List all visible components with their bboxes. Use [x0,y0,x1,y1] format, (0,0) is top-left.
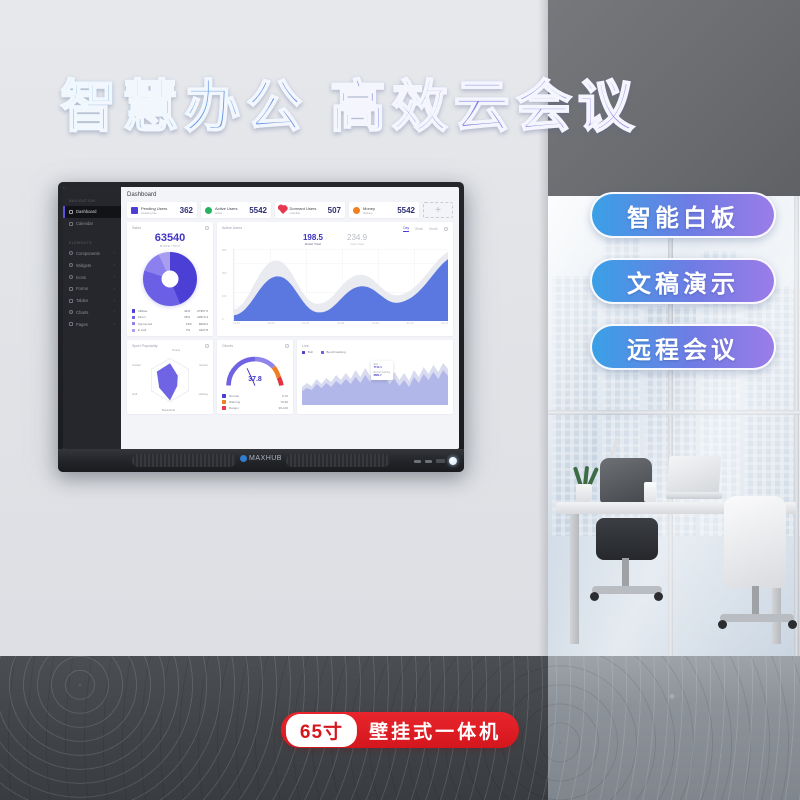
gauge-value: 37.8 [222,376,288,383]
stat-value: 5542 [249,206,267,215]
sales-donut-chart [143,252,197,306]
radar-axis-label: Basketball [162,408,175,412]
legend-amount: 22874.4 [197,315,208,319]
office-furniture [548,440,800,690]
volume-down-button[interactable] [414,460,421,463]
total-flow: 234.9 Flow Total [347,233,367,246]
chevron-right-icon: › [114,263,115,267]
legend-swatch [132,309,135,312]
x-tick: 01-05 [233,322,240,325]
y-tick: 200 [222,272,233,275]
circle-orange-icon [353,207,360,214]
pages-icon [69,322,73,326]
line-area-chart: Bull 7714.4 Benchmarking 6881.7 [302,355,448,405]
sidebar-caption-elements: ELEMENTS [63,237,121,248]
gear-icon[interactable] [205,344,209,348]
active-users-title: Active Users [222,226,242,230]
gauge-chart: 37.8 [222,350,288,392]
sidebar-item-icons[interactable]: Icons › [63,271,121,283]
line-title: Line [302,344,448,348]
sales-subtitle: MORE INFO [132,244,208,248]
radar-axis-label: Golf [132,392,137,396]
y-tick: 100 [222,295,233,298]
sidebar-item-dashboard[interactable]: Dashboard [63,206,121,218]
power-button[interactable] [449,457,457,465]
sidebar-item-label: Tables [76,298,88,303]
x-tick: 01-06 [268,322,275,325]
legend-label: Affiliate [138,309,184,313]
legend-label: Danger [229,406,279,410]
radar-series [132,350,208,410]
dashboard-app: NAVIGATION Dashboard Calendar ELEMENTS C… [63,187,459,449]
legend-label: Bull [308,350,313,354]
stat-card-money[interactable]: Money delivery 5542 [349,202,419,218]
sales-title: Sales [132,226,208,230]
speaker-grille-right [286,454,390,467]
sidebar-item-widgets[interactable]: Widgets › [63,259,121,271]
screen-size-badge: 65寸 [286,714,357,747]
stat-card-pending-users[interactable]: Pending Users Awaiting title 362 [127,202,197,218]
legend-swatch [132,316,135,319]
stat-card-dormant-users[interactable]: Dormant Users undefine 507 [275,202,345,218]
stat-value: 362 [180,206,193,215]
gauge-legend-item: Warning 70-90 [222,400,288,404]
feature-pill-list: 智能白板 文稿演示 远程会议 [590,192,776,370]
widgets-icon [69,263,73,267]
feature-pill-presentation[interactable]: 文稿演示 [590,258,776,304]
sidebar-item-label: Icons [76,275,86,280]
radar-axis-label: Soccer [199,363,208,367]
brand-mark-icon [240,455,247,462]
legend-percent: 13% [186,322,199,326]
sidebar-item-label: Forms [76,286,88,291]
sidebar-caption-main: NAVIGATION [63,195,121,206]
sidebar-item-forms[interactable]: Forms › [63,283,121,295]
laptop-icon [667,456,722,494]
legend-amount: 8260.2 [199,322,208,326]
total-label: Bullet Total [303,242,323,246]
feature-pill-remote-meeting[interactable]: 远程会议 [590,324,776,370]
stat-value: 507 [328,206,341,215]
components-icon [69,251,73,255]
legend-item: Bull [302,350,313,354]
stat-sublabel: delivery [363,211,397,215]
area-series [234,249,448,321]
chevron-right-icon: › [114,310,115,314]
circle-green-icon [205,207,212,214]
x-tick: 01-07 [303,322,310,325]
legend-swatch [321,351,324,354]
legend-range: 90-100 [279,406,288,410]
sales-value: 63540 [132,232,208,244]
total-value: 234.9 [347,233,367,242]
chart-row-1: Sales 63540 MORE INFO Affiliate 44% 2795… [127,222,453,336]
chevron-right-icon: › [114,251,115,255]
sidebar-item-label: Widgets [76,263,91,268]
legend-range: 70-90 [280,400,288,404]
tooltip-value: 7714.4 [374,366,391,369]
legend-swatch [132,322,135,325]
gear-icon[interactable] [444,227,448,231]
sidebar-item-label: Components [76,251,100,256]
tooltip-value: 6881.7 [374,374,391,377]
page-title: 智慧办公 高效云会议 [0,62,700,143]
gear-icon[interactable] [205,226,209,230]
sidebar-item-label: Charts [76,310,88,315]
legend-label: Warning [229,400,280,404]
calendar-icon [69,222,73,226]
legend-item: Affiliate 44% 27957.6 [132,309,208,313]
volume-up-button[interactable] [425,460,432,463]
speaker-grille-left [132,454,236,467]
active-users-x-axis: 01-05 01-06 01-07 01-08 01-09 01-10 01-1… [222,322,448,325]
x-tick: 01-11 [442,322,448,325]
gear-icon[interactable] [285,344,289,348]
sales-card: Sales 63540 MORE INFO Affiliate 44% 2795… [127,222,213,336]
chevron-right-icon: › [114,275,115,279]
sidebar-item-label: Calendar [76,221,93,226]
forms-icon [69,287,73,291]
banner-text: 壁挂式一体机 [369,717,501,744]
sidebar-item-components[interactable]: Components › [63,248,121,260]
sport-title: Sport Popularity [132,344,208,348]
chart-tooltip: Bull 7714.4 Benchmarking 6881.7 [371,361,394,380]
total-value: 198.5 [303,233,323,242]
chevron-right-icon: › [114,287,115,291]
sidebar: NAVIGATION Dashboard Calendar ELEMENTS C… [63,187,121,449]
add-card-button[interactable]: + [423,202,453,218]
stat-sublabel: active [215,211,249,215]
active-users-area-chart: 300 200 100 0 [222,249,448,321]
total-bullet: 198.5 Bullet Total [303,233,323,246]
chevron-right-icon: › [114,322,115,326]
sidebar-item-label: Dashboard [76,209,97,214]
sidebar-item-calendar[interactable]: Calendar [63,218,121,230]
legend-amount: 4447.8 [199,328,208,332]
dashboard-main: Dashboard Pending Users Awaiting title 3… [121,187,459,449]
tab-week[interactable]: Week [415,227,423,231]
y-tick: 0 [222,318,233,321]
legend-swatch [302,351,305,354]
legend-label: Normal [229,394,282,398]
legend-percent: 44% [184,309,197,313]
product-banner: 65寸 壁挂式一体机 [281,712,519,748]
icons-icon [69,275,73,279]
legend-item: Benchmarking [321,350,346,354]
tab-month[interactable]: Month [429,227,438,231]
radar-axis-label: Hockey [199,392,208,396]
gauge-title: Clients [222,344,288,348]
legend-label: Benchmarking [326,350,345,354]
total-label: Flow Total [347,242,367,246]
legend-swatch [222,406,226,410]
line-legend: Bull Benchmarking [302,350,448,354]
sidebar-item-label: Pages [76,322,88,327]
active-users-tabs: Day Week Month [403,226,448,232]
stat-sublabel: undefine [290,211,328,215]
x-tick: 01-08 [337,322,344,325]
gauge-arc [222,350,288,392]
x-tick: 01-10 [407,322,414,325]
legend-item: Sponsored 13% 8260.2 [132,322,208,326]
sidebar-item-pages[interactable]: Pages › [63,318,121,330]
legend-label: E-mail [138,328,186,332]
legend-item: E-mail 7% 4447.8 [132,328,208,332]
radar-chart: Tennis Soccer Hockey Basketball Golf Cri… [132,350,208,410]
stat-value: 5542 [397,206,415,215]
line-card: Line Bull Benchmarking [297,340,453,414]
sport-popularity-card: Sport Popularity [127,340,213,414]
square-icon [131,207,138,214]
display-bezel: MAXHUB [58,449,464,472]
legend-amount: 27957.6 [197,309,208,313]
legend-label: Direct [138,315,184,319]
legend-swatch [132,329,135,332]
heart-icon [279,206,287,214]
y-tick: 300 [222,249,233,252]
tables-icon [69,299,73,303]
usb-port-icon [436,459,445,463]
stat-card-active-users[interactable]: Active Users active 5542 [201,202,271,218]
legend-swatch [222,394,226,398]
chevron-right-icon: › [114,299,115,303]
legend-percent: 7% [186,328,199,332]
legend-range: 0-70 [282,394,288,398]
legend-swatch [222,400,226,404]
feature-pill-whiteboard[interactable]: 智能白板 [590,192,776,238]
dashboard-heading: Dashboard [127,192,453,198]
legend-item: Direct 36% 22874.4 [132,315,208,319]
active-users-card: Active Users Day Week Month 198.5 [217,222,453,336]
active-users-totals: 198.5 Bullet Total 234.9 Flow Total [222,233,448,246]
stat-sublabel: Awaiting title [141,211,180,215]
plant-icon [576,484,592,502]
chart-row-2: Sport Popularity [127,340,453,414]
device-controls [414,457,457,465]
home-icon [69,210,73,214]
brand-logo: MAXHUB [240,455,282,462]
gauge-legend-item: Danger 90-100 [222,406,288,410]
tab-day[interactable]: Day [403,226,409,232]
sidebar-item-tables[interactable]: Tables › [63,295,121,307]
radar-axis-label: Cricket [132,363,141,367]
interactive-display: NAVIGATION Dashboard Calendar ELEMENTS C… [58,182,464,472]
brand-name: MAXHUB [249,455,282,462]
legend-label: Sponsored [138,322,186,326]
radar-axis-label: Tennis [172,348,180,352]
charts-icon [69,310,73,314]
sidebar-item-charts[interactable]: Charts › [63,306,121,318]
gauge-legend-item: Normal 0-70 [222,394,288,398]
legend-percent: 36% [184,315,197,319]
clients-gauge-card: Clients 37.8 [217,340,293,414]
x-tick: 01-09 [372,322,379,325]
stat-card-row: Pending Users Awaiting title 362 Active … [127,202,453,218]
screen: NAVIGATION Dashboard Calendar ELEMENTS C… [63,187,459,449]
